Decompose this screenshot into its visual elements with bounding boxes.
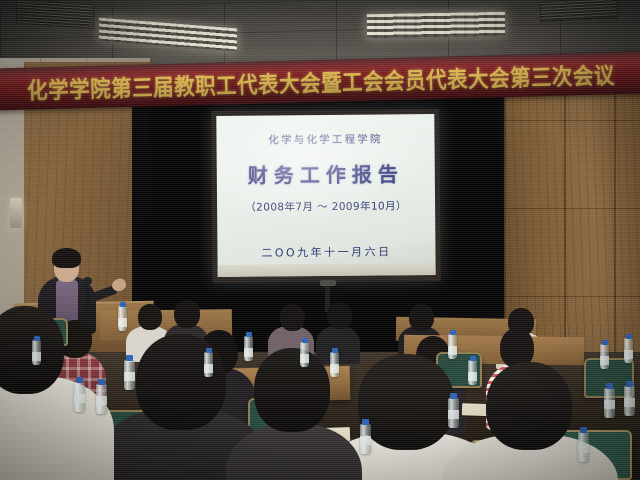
water-bottle xyxy=(600,344,609,369)
audience-body xyxy=(226,424,362,480)
water-bottle xyxy=(124,360,135,390)
screen-glare xyxy=(216,114,435,277)
water-bottle xyxy=(604,388,615,418)
water-bottle xyxy=(32,340,41,365)
audience-head xyxy=(174,300,200,328)
water-bottle xyxy=(244,336,253,361)
water-bottle xyxy=(448,398,459,428)
audience-head xyxy=(358,354,454,450)
audience-head xyxy=(136,334,226,430)
water-bottle xyxy=(578,432,589,462)
projection-screen-frame: 化学与化学工程学院 财务工作报告 （2008年7月 ～ 2009年10月） 二O… xyxy=(211,109,440,283)
water-bottle xyxy=(118,306,127,331)
water-bottle xyxy=(360,424,371,454)
microphone-head-icon xyxy=(83,277,92,285)
water-bottle xyxy=(96,384,107,414)
speaker-hair xyxy=(52,248,81,268)
water-bottle xyxy=(468,360,477,385)
audience-head xyxy=(486,362,572,450)
water-bottle xyxy=(624,386,635,416)
water-bottle xyxy=(204,352,213,377)
water-bottle xyxy=(74,382,85,412)
audience-head xyxy=(409,304,434,331)
audience-head xyxy=(280,304,305,331)
audience-member-foreground xyxy=(0,306,100,480)
audience-head xyxy=(138,304,162,330)
projection-screen: 化学与化学工程学院 财务工作报告 （2008年7月 ～ 2009年10月） 二O… xyxy=(216,114,435,277)
water-bottle xyxy=(300,342,309,367)
conference-hall-screenshot: 化学学院第三届教职工代表大会暨工会会员代表大会第三次会议 化学与化学工程学院 财… xyxy=(0,0,640,480)
audience-head xyxy=(254,348,330,432)
screen-bottom-band xyxy=(218,263,436,277)
water-bottle xyxy=(624,338,633,363)
wall-sconce-icon xyxy=(10,198,22,228)
water-bottle xyxy=(448,334,457,359)
water-bottle xyxy=(330,352,339,377)
audience-head xyxy=(327,302,352,329)
